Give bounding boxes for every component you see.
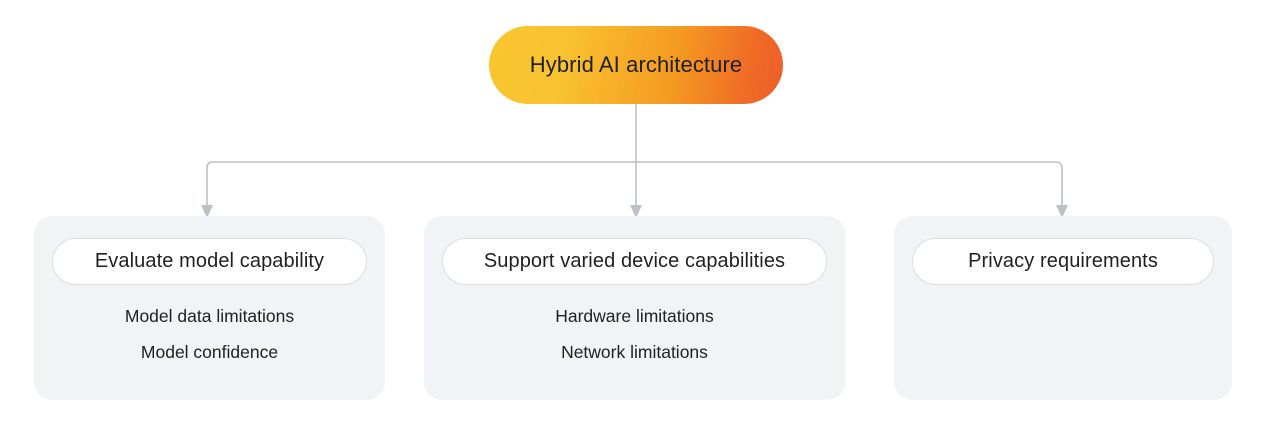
root-node-label: Hybrid AI architecture — [530, 52, 743, 78]
connector-left — [207, 162, 213, 205]
branch-title-pill[interactable]: Support varied device capabilities — [442, 238, 827, 285]
branch-card-evaluate-model-capability[interactable]: Evaluate model capability Model data lim… — [34, 216, 385, 400]
list-item: Model confidence — [141, 341, 278, 365]
branch-card-support-varied-device-capabilities[interactable]: Support varied device capabilities Hardw… — [424, 216, 845, 400]
branch-title-pill[interactable]: Evaluate model capability — [52, 238, 367, 285]
branch-item-list: Hardware limitations Network limitations — [442, 305, 827, 364]
connector-right — [1056, 162, 1062, 205]
list-item: Model data limitations — [125, 305, 294, 329]
list-item: Network limitations — [561, 341, 708, 365]
diagram-canvas: Hybrid AI architecture Evaluate model ca… — [0, 0, 1280, 436]
root-node[interactable]: Hybrid AI architecture — [489, 26, 783, 104]
branch-title-pill[interactable]: Privacy requirements — [912, 238, 1214, 285]
branch-title-label: Support varied device capabilities — [484, 250, 785, 273]
branch-card-privacy-requirements[interactable]: Privacy requirements — [894, 216, 1232, 400]
branch-title-label: Privacy requirements — [968, 250, 1158, 273]
branch-title-label: Evaluate model capability — [95, 250, 324, 273]
list-item: Hardware limitations — [555, 305, 714, 329]
branch-item-list: Model data limitations Model confidence — [52, 305, 367, 364]
